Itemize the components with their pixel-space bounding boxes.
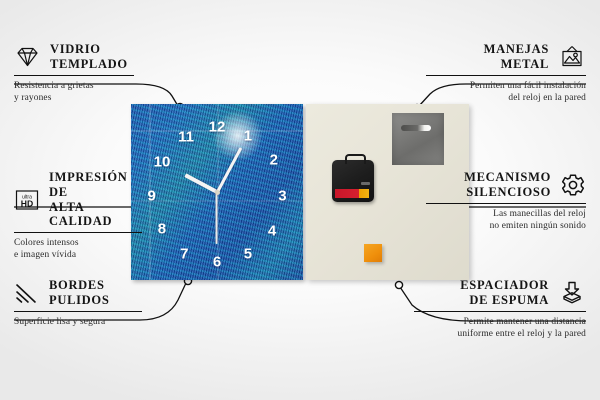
clock-movement bbox=[332, 160, 374, 202]
feature-description: Permite mantener una distancia uniforme … bbox=[414, 316, 586, 340]
title-divider bbox=[14, 232, 142, 233]
feature-title: ESPACIADOR DE ESPUMA bbox=[460, 278, 549, 308]
feature-title: IMPRESIÓN DE ALTA CALIDAD bbox=[49, 170, 142, 229]
hour-number-8: 8 bbox=[158, 221, 166, 236]
feature-title: MANEJAS METAL bbox=[484, 42, 549, 72]
hour-number-3: 3 bbox=[278, 188, 286, 203]
hour-number-10: 10 bbox=[154, 155, 171, 170]
feature-espaciador-de-espuma: ESPACIADOR DE ESPUMA Permite mantener un… bbox=[414, 278, 586, 340]
feature-header: MANEJAS METAL bbox=[426, 42, 586, 72]
feature-header: ESPACIADOR DE ESPUMA bbox=[414, 278, 586, 308]
anchor-dot-espaciador bbox=[395, 281, 402, 288]
hour-number-12: 12 bbox=[209, 119, 226, 134]
clock-front-face: 12 1 2 3 4 5 6 7 8 9 10 11 bbox=[131, 104, 303, 280]
hour-number-4: 4 bbox=[268, 223, 276, 238]
feature-header: ultra HD IMPRESIÓN DE ALTA CALIDAD bbox=[14, 170, 142, 229]
feature-bordes-pulidos: BORDES PULIDOS Superficie lisa y segura bbox=[14, 278, 142, 328]
feature-title: MECANISMO SILENCIOSO bbox=[464, 170, 551, 200]
diagonal-lines-icon bbox=[14, 282, 40, 304]
clock-dial: 12 1 2 3 4 5 6 7 8 9 10 11 bbox=[131, 104, 303, 280]
gear-icon bbox=[560, 173, 586, 197]
hour-number-6: 6 bbox=[213, 255, 221, 270]
movement-detail bbox=[361, 182, 370, 185]
hanger-slot bbox=[401, 125, 431, 131]
movement-hang-tab bbox=[345, 154, 366, 164]
feature-header: BORDES PULIDOS bbox=[14, 278, 142, 308]
feature-description: Colores intensos e imagen vívida bbox=[14, 237, 142, 261]
product-photo: 12 1 2 3 4 5 6 7 8 9 10 11 bbox=[131, 104, 469, 280]
hour-number-5: 5 bbox=[244, 246, 252, 261]
hour-number-11: 11 bbox=[178, 130, 194, 145]
ultra-hd-icon: ultra HD bbox=[14, 189, 40, 211]
hour-number-2: 2 bbox=[270, 153, 278, 168]
feature-description: Las manecillas del reloj no emiten ningú… bbox=[426, 208, 586, 232]
feature-impresion-alta-calidad: ultra HD IMPRESIÓN DE ALTA CALIDAD Color… bbox=[14, 170, 142, 261]
title-divider bbox=[426, 203, 586, 204]
feature-title: BORDES PULIDOS bbox=[49, 278, 109, 308]
diamond-icon bbox=[14, 46, 41, 68]
feature-header: MECANISMO SILENCIOSO bbox=[426, 170, 586, 200]
title-divider bbox=[14, 311, 142, 312]
hour-number-9: 9 bbox=[147, 188, 155, 203]
product-infographic: 12 1 2 3 4 5 6 7 8 9 10 11 bbox=[0, 0, 600, 400]
down-arrow-pad-icon bbox=[558, 281, 586, 305]
movement-battery-label bbox=[335, 189, 369, 198]
clock-hour-hand bbox=[184, 173, 218, 193]
feature-header: VIDRIO TEMPLADO bbox=[14, 42, 134, 72]
clock-minute-hand bbox=[216, 147, 242, 193]
foam-spacer bbox=[364, 244, 382, 262]
feature-title: VIDRIO TEMPLADO bbox=[50, 42, 128, 72]
ultra-hd-icon-bottom-text: HD bbox=[21, 198, 33, 208]
title-divider bbox=[426, 75, 586, 76]
title-divider bbox=[414, 311, 586, 312]
clock-second-hand bbox=[216, 192, 218, 244]
feature-manejas-metal: MANEJAS METAL Permiten una fácil instala… bbox=[426, 42, 586, 104]
clock-center-pin bbox=[215, 190, 220, 195]
metal-hanger-plate bbox=[392, 113, 444, 165]
feature-vidrio-templado: VIDRIO TEMPLADO Resistencia a grietas y … bbox=[14, 42, 134, 104]
feature-mecanismo-silencioso: MECANISMO SILENCIOSO Las manecillas del … bbox=[426, 170, 586, 232]
hour-number-7: 7 bbox=[180, 246, 188, 261]
feature-description: Resistencia a grietas y rayones bbox=[14, 80, 134, 104]
title-divider bbox=[14, 75, 134, 76]
feature-description: Superficie lisa y segura bbox=[14, 316, 142, 328]
feature-description: Permiten una fácil instalación del reloj… bbox=[426, 80, 586, 104]
picture-frame-hanger-icon bbox=[558, 45, 586, 69]
hour-number-1: 1 bbox=[244, 128, 252, 143]
